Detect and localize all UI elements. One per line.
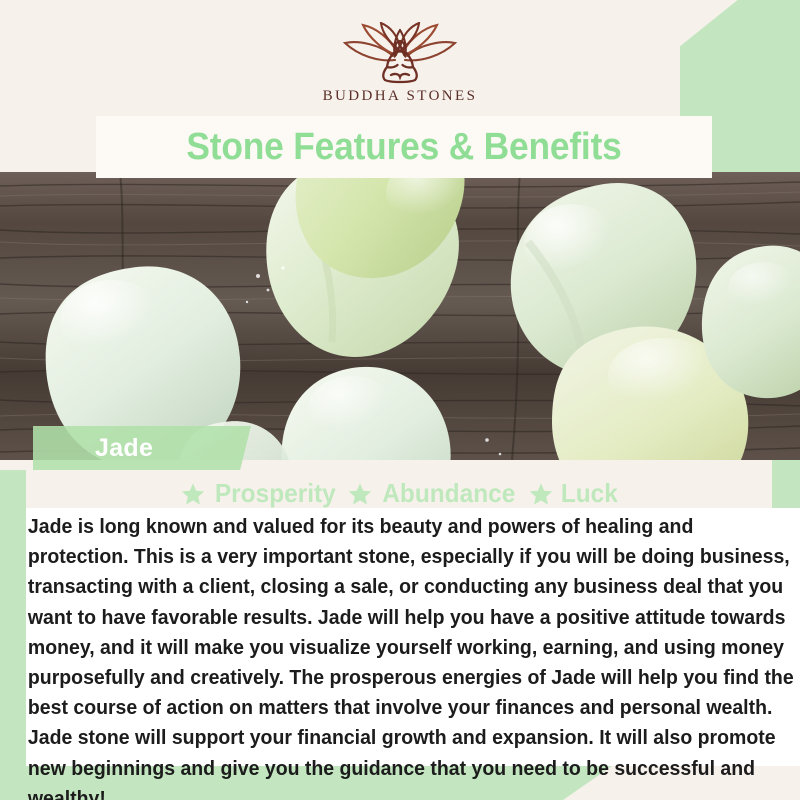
description-panel: Jade is long known and valued for its be… [26,508,800,766]
star-icon [181,482,205,506]
stone-name: Jade [95,434,153,463]
brand-name: BUDDHA STONES [323,88,478,105]
hero-photo [0,172,800,460]
title-banner: Stone Features & Benefits [96,116,712,178]
page-title: Stone Features & Benefits [186,126,621,169]
keyword-label: Prosperity [214,478,335,509]
keyword-abundance: Abundance [348,478,520,509]
keyword-prosperity: Prosperity [181,478,340,509]
stone-keywords: Prosperity Abundance Luck [0,478,800,509]
brand-logo: BUDDHA STONES [0,22,800,114]
star-icon [348,482,372,506]
stone-description: Jade is long known and valued for its be… [26,512,796,800]
keyword-label: Luck [561,478,618,509]
keyword-label: Abundance [382,478,515,509]
infographic-card: BUDDHA STONES Stone Features & Benefits [0,0,800,800]
keyword-luck: Luck [529,478,620,509]
decor-green-rail-left [0,470,26,790]
stone-name-band: Jade [33,426,251,470]
lotus-meditation-icon [325,22,475,84]
star-icon [529,482,553,506]
